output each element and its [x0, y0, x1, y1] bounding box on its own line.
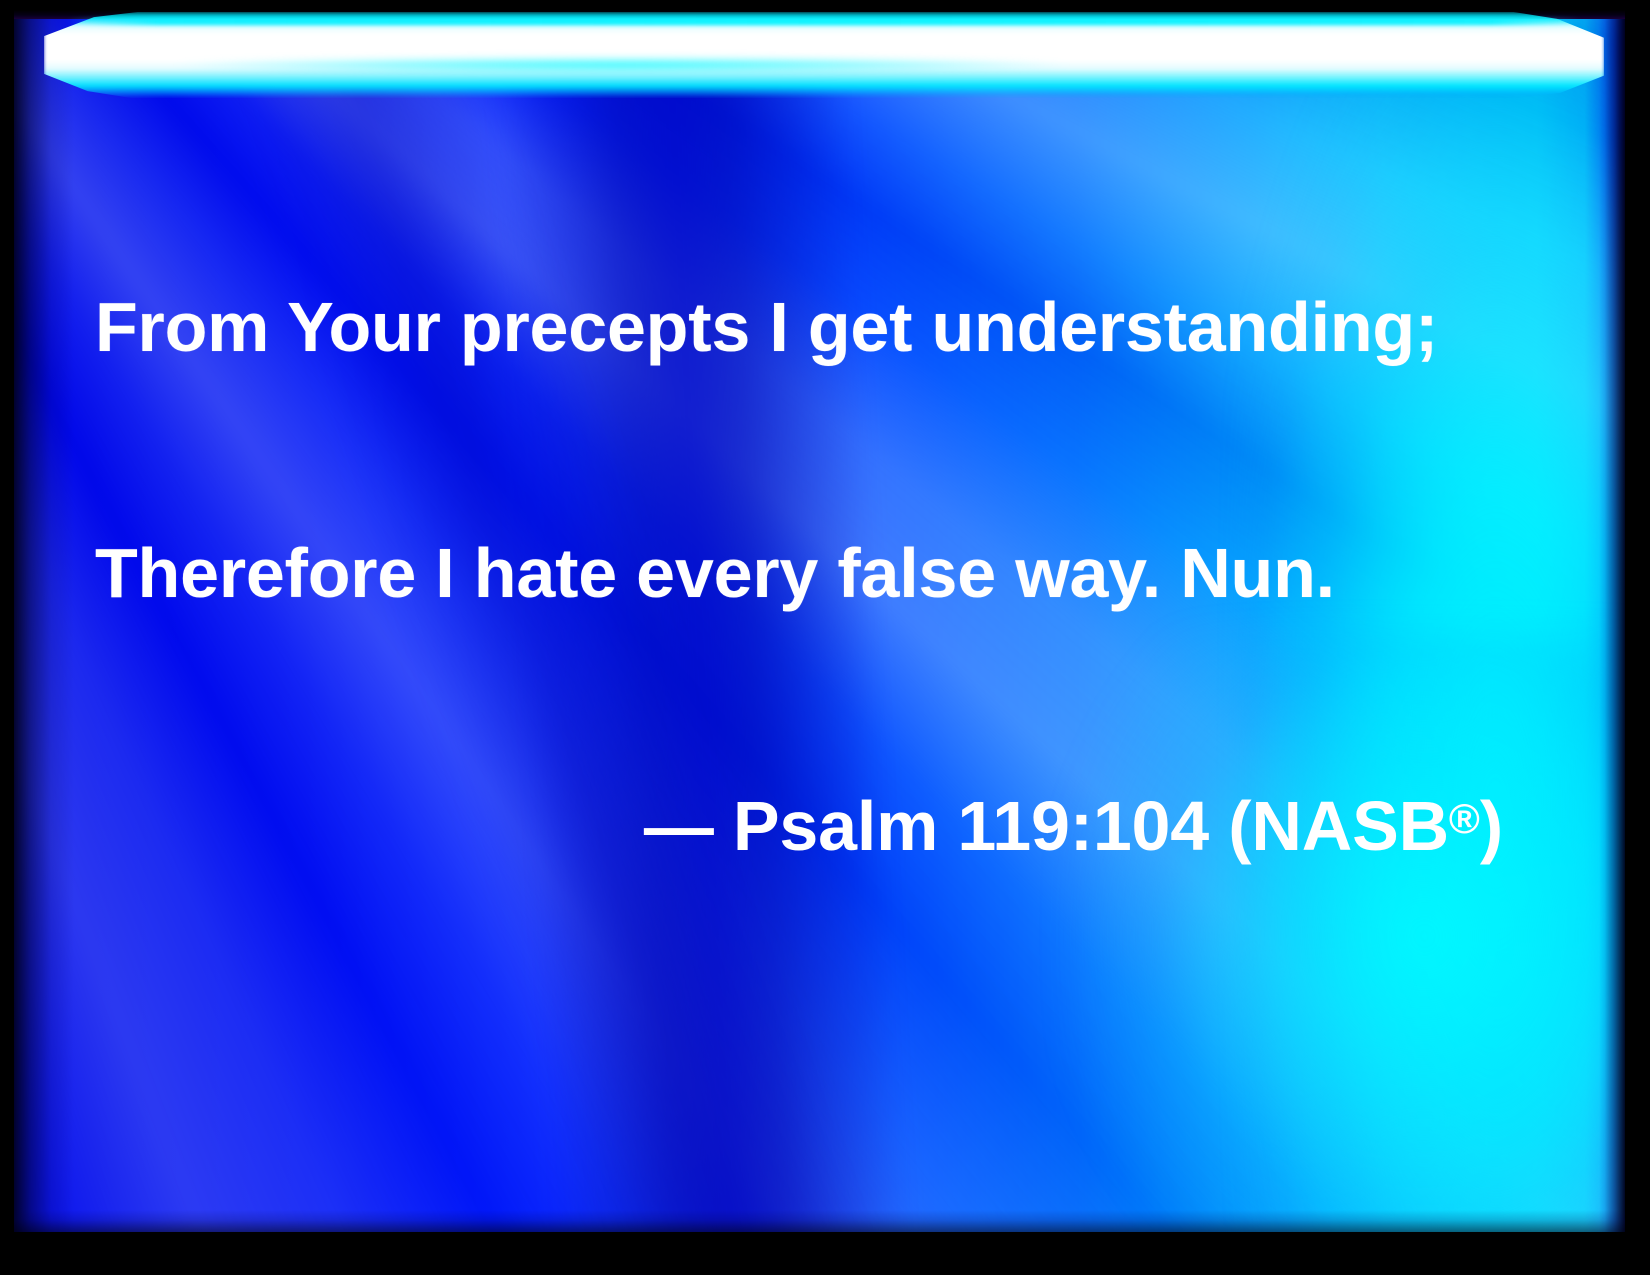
verse-citation: — Psalm 119:104 (NASB®)	[95, 778, 1525, 867]
citation-suffix: )	[1480, 787, 1503, 865]
verse-line-1: From Your precepts I get understanding;	[95, 286, 1525, 368]
light-bar-streak	[169, 57, 1074, 73]
citation-prefix: — Psalm 119:104 (NASB	[644, 787, 1449, 865]
background-left-vignette	[14, 10, 74, 1232]
registered-trademark-icon: ®	[1449, 795, 1480, 842]
light-bar-top-edge	[67, 18, 1580, 25]
scripture-slide: From Your precepts I get understanding; …	[0, 0, 1650, 1275]
background-bottom-vignette	[14, 1210, 1625, 1232]
top-light-bar	[44, 12, 1604, 98]
slide-background-image: From Your precepts I get understanding; …	[14, 10, 1625, 1232]
verse-text-block: From Your precepts I get understanding; …	[95, 122, 1525, 1031]
verse-line-2: Therefore I hate every false way. Nun.	[95, 532, 1525, 614]
background-right-vignette	[1599, 10, 1625, 1232]
